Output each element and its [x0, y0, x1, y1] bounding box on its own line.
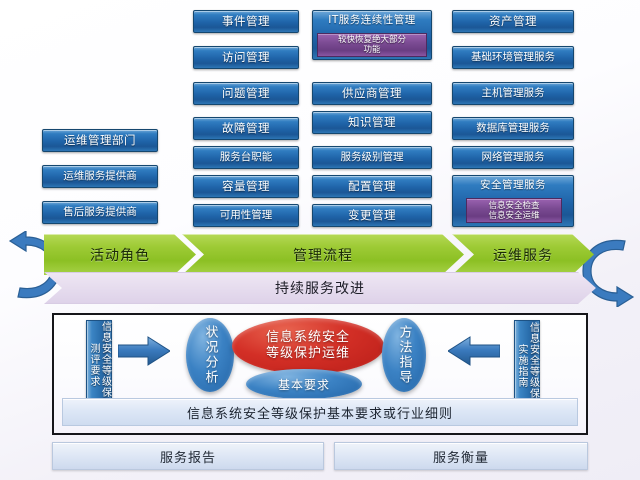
left-pointing-arrow-icon: [448, 336, 500, 366]
method-guidance-ellipse[interactable]: 方法指导: [382, 318, 426, 392]
role-box-2[interactable]: 运维服务提供商: [42, 165, 158, 188]
process-box-a7[interactable]: 可用性管理: [193, 204, 299, 227]
process-box-b6[interactable]: 变更管理: [312, 204, 432, 227]
process-box-a6[interactable]: 容量管理: [193, 175, 299, 198]
chevron-processes[interactable]: 管理流程: [182, 234, 464, 275]
footer-service-report[interactable]: 服务报告: [52, 442, 324, 470]
service-box-5[interactable]: 网络管理服务: [452, 146, 574, 169]
service-box-4[interactable]: 数据库管理服务: [452, 117, 574, 140]
process-box-b4[interactable]: 服务级别管理: [312, 146, 432, 169]
process-box-a5[interactable]: 服务台职能: [193, 146, 299, 169]
process-box-a2[interactable]: 访问管理: [193, 46, 299, 69]
situation-ellipse[interactable]: 状况分析: [186, 318, 234, 392]
center-ellipse-label: 信息系统安全 等级保护运维: [266, 330, 350, 362]
right-pointing-arrow-icon: [118, 336, 170, 366]
service-box-1[interactable]: 资产管理: [452, 10, 574, 33]
process-box-a1[interactable]: 事件管理: [193, 10, 299, 33]
role-box-1[interactable]: 运维管理部门: [42, 129, 158, 152]
chevron-roles[interactable]: 活动角色: [44, 234, 196, 275]
diagram-canvas: 运维管理部门 运维服务提供商 售后服务提供商 事件管理 访问管理 问题管理 故障…: [0, 0, 640, 480]
process-box-b3[interactable]: 知识管理: [312, 111, 432, 134]
process-box-b5[interactable]: 配置管理: [312, 175, 432, 198]
center-ellipse[interactable]: 信息系统安全 等级保护运维: [232, 318, 384, 374]
service-box-2[interactable]: 基础环境管理服务: [452, 46, 574, 69]
process-box-b1-sub[interactable]: 较快恢复绝大部分 功能: [317, 33, 427, 57]
process-box-a4[interactable]: 故障管理: [193, 117, 299, 140]
baseline-requirement-bar[interactable]: 信息系统安全等级保护基本要求或行业细则: [62, 398, 578, 426]
role-box-3[interactable]: 售后服务提供商: [42, 201, 158, 224]
service-box-3[interactable]: 主机管理服务: [452, 82, 574, 105]
improvement-band[interactable]: 持续服务改进: [44, 272, 596, 304]
left-input-box[interactable]: 信息安全等级保护测评要求: [86, 320, 112, 410]
service-box-6-label: 安全管理服务: [480, 180, 546, 191]
chevron-services[interactable]: 运维服务: [452, 234, 594, 275]
process-box-b2[interactable]: 供应商管理: [312, 82, 432, 105]
process-box-b1-label: IT服务连续性管理: [328, 15, 416, 26]
basic-requirement-ellipse[interactable]: 基本要求: [246, 369, 362, 399]
footer-service-measure[interactable]: 服务衡量: [334, 442, 588, 470]
service-box-6-sub[interactable]: 信息安全检查 信息安全运维: [466, 198, 562, 223]
process-box-a3[interactable]: 问题管理: [193, 82, 299, 105]
